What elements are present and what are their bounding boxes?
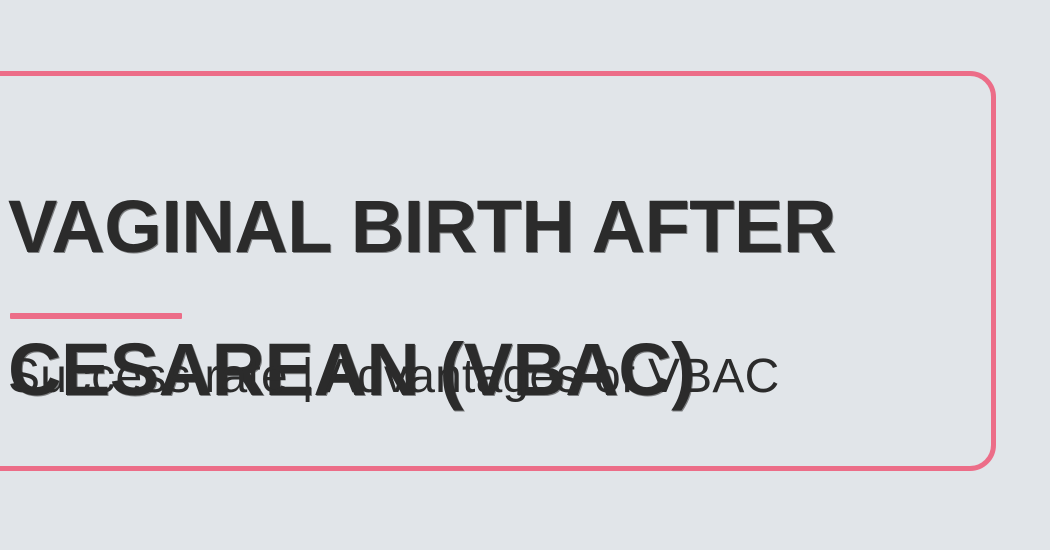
accent-divider [10, 313, 182, 319]
page-title-line-1: VAGINAL BIRTH AFTER [8, 191, 988, 263]
page-title: VAGINAL BIRTH AFTER CESAREAN (VBAC) [8, 119, 988, 478]
title-card-content: VAGINAL BIRTH AFTER CESAREAN (VBAC) Succ… [0, 71, 996, 471]
page-subtitle: Success rate | Advantages of VBAC [8, 349, 779, 404]
title-block: VAGINAL BIRTH AFTER CESAREAN (VBAC) [8, 119, 988, 478]
slide-canvas: VAGINAL BIRTH AFTER CESAREAN (VBAC) Succ… [0, 0, 1050, 550]
